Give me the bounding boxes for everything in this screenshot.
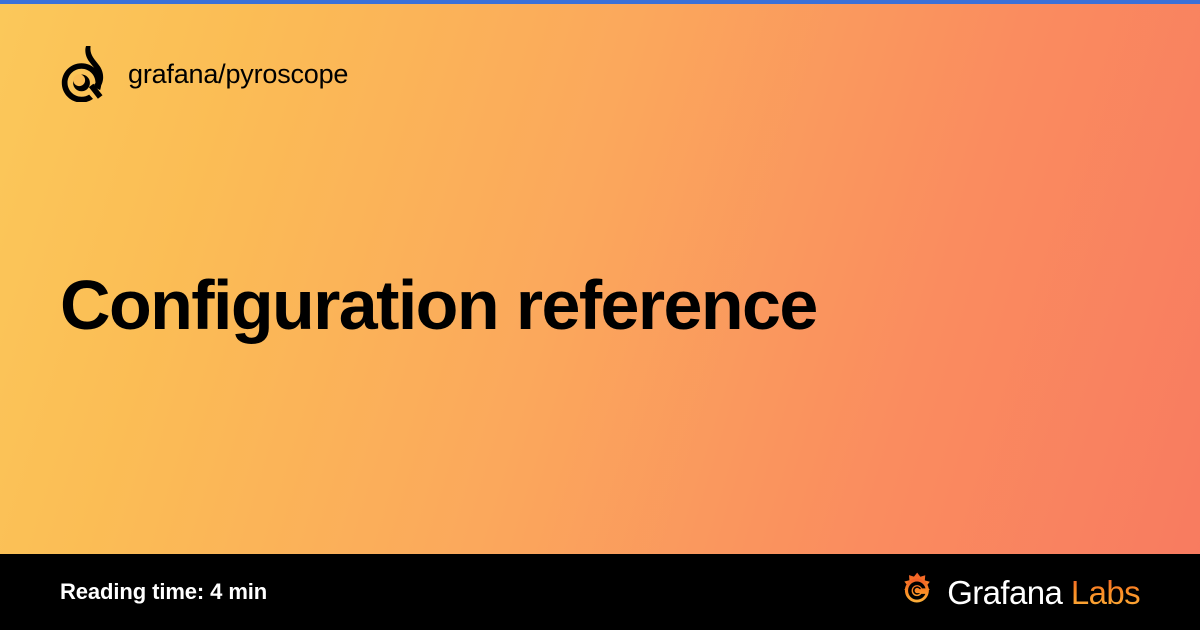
top-accent-rule xyxy=(0,0,1200,4)
reading-time-label: Reading time: 4 min xyxy=(60,581,267,603)
grafana-sun-spiral-icon xyxy=(898,572,936,612)
brand-name-secondary: Labs xyxy=(1071,574,1140,611)
grafana-labs-wordmark: Grafana Labs xyxy=(947,576,1140,609)
pyroscope-flame-magnifier-icon xyxy=(60,46,112,102)
repo-name-label: grafana/pyroscope xyxy=(128,61,348,88)
grafana-labs-logo: Grafana Labs xyxy=(898,572,1140,612)
repo-breadcrumb: grafana/pyroscope xyxy=(60,46,348,102)
card-footer: Reading time: 4 min xyxy=(0,554,1200,630)
brand-name-primary: Grafana xyxy=(947,574,1062,611)
page-title: Configuration reference xyxy=(60,268,1140,344)
open-graph-card: grafana/pyroscope Configuration referenc… xyxy=(0,0,1200,630)
